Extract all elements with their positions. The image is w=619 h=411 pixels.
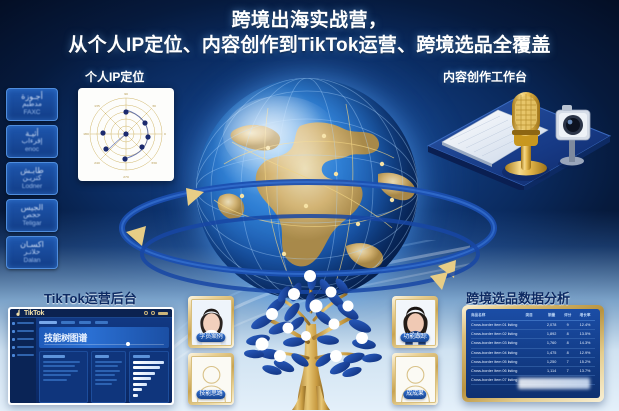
- table-cell-rating: 7: [560, 366, 575, 375]
- avatar-frame-inner: 学员案例: [191, 299, 232, 346]
- cross-border-data-table-frame[interactable]: 商品名称 类目 销量 评分 增长率 Cross-border item 01 l…: [462, 305, 604, 402]
- skill-tree-graphic: [236, 262, 386, 411]
- sidebar-item-icon: [12, 346, 15, 349]
- table-header-cell: 评分: [560, 313, 575, 321]
- table-cell-rating: 8: [560, 348, 575, 357]
- data-table: 商品名称 类目 销量 评分 增长率 Cross-border item 01 l…: [471, 313, 595, 385]
- table-header-row: 商品名称 类目 销量 评分 增长率: [471, 313, 595, 321]
- bar: [133, 394, 139, 397]
- sidebar-item[interactable]: [12, 337, 34, 341]
- sidebar-item[interactable]: [12, 345, 34, 349]
- bar: [133, 383, 147, 386]
- language-card-line3: Dalan: [24, 257, 41, 265]
- account-menu[interactable]: [158, 312, 168, 315]
- caption-content-workstation: 内容创作工作台: [443, 68, 527, 85]
- sidebar-item-label: [17, 354, 34, 356]
- sidebar-item-label: [17, 322, 34, 324]
- caption-tiktok-backend: TikTok运营后台: [44, 288, 137, 307]
- table-cell-name: Cross-border item 02 listing: [471, 330, 543, 339]
- list-item[interactable]: [43, 374, 71, 376]
- svg-text:330: 330: [151, 161, 157, 165]
- panel-list: [39, 351, 88, 403]
- table-cell-growth: 14.3%: [575, 339, 595, 348]
- list-item[interactable]: [43, 370, 78, 372]
- tiktok-dashboard-screen: TikTok: [10, 309, 172, 403]
- language-card-line1: أثيـة: [25, 130, 39, 138]
- table-cell-sales: 1,760: [543, 339, 560, 348]
- language-card-line2: حلاتـر: [24, 249, 40, 257]
- svg-text:90: 90: [124, 92, 128, 96]
- panel-bar-chart: [129, 351, 169, 403]
- tiktok-tab-bar: [39, 321, 169, 324]
- table-header-cell: 增长率: [575, 313, 595, 321]
- table-cell-growth: 15.2%: [575, 357, 595, 366]
- language-card-line3: enoc: [25, 146, 39, 154]
- table-header-cell: 销量: [543, 313, 560, 321]
- sidebar-item[interactable]: [12, 353, 34, 357]
- list-item: [95, 365, 119, 367]
- table-row[interactable]: Cross-border item 05 listing 1,250 7 15.…: [471, 357, 595, 366]
- tiktok-note-icon: [14, 309, 21, 317]
- panel-header: [133, 355, 151, 358]
- avatar-card-results[interactable]: 成成果: [392, 353, 438, 405]
- table-cell-name: Cross-border item 05 listing: [471, 357, 543, 366]
- list-item: [95, 379, 117, 381]
- language-card-line1: اكسـان: [20, 241, 44, 249]
- camera-icon: [556, 105, 590, 169]
- svg-text:0: 0: [164, 132, 166, 136]
- caption-ip-positioning: 个人IP定位: [85, 68, 144, 85]
- tiktok-dashboard-topbar: TikTok: [10, 309, 172, 318]
- tiktok-dashboard-body: 技能树图谱: [10, 318, 172, 403]
- language-card-line1: طابـش: [20, 167, 44, 175]
- language-card[interactable]: اكسـان حلاتـر Dalan: [6, 236, 58, 269]
- avatar-frame-inner: 技能思路: [191, 356, 232, 403]
- language-card-column: أجـوزة مدطبم FAXC أثيـة إقرءاب enoc طابـ…: [6, 88, 62, 273]
- language-card-line1: الجيس: [21, 204, 43, 212]
- poster-title: 跨境出海实战营， 从个人IP定位、内容创作到TikTok运营、跨境选品全覆盖: [0, 8, 619, 59]
- avatar-card-label: 成成果: [403, 390, 426, 399]
- avatar-frame-inner: 功能跟踪: [395, 299, 436, 346]
- list-item: [95, 383, 112, 385]
- bar: [133, 361, 164, 364]
- gear-icon[interactable]: [151, 311, 155, 315]
- table-row[interactable]: Cross-border item 02 listing 1,892 8 13.…: [471, 330, 595, 339]
- table-cell-growth: 12.9%: [575, 348, 595, 357]
- bar: [133, 366, 160, 369]
- title-line-1: 跨境出海实战营，: [0, 8, 619, 33]
- globe-highlight: [223, 96, 338, 176]
- progress-bar-fill: [44, 342, 130, 346]
- table-cell-rating: 8: [560, 339, 575, 348]
- svg-text:180: 180: [83, 132, 89, 136]
- table-row[interactable]: Cross-border item 06 listing 1,114 7 13.…: [471, 366, 595, 375]
- tiktok-sidebar: [10, 318, 36, 403]
- sidebar-item-label: [17, 330, 34, 332]
- list-item: [95, 374, 116, 376]
- table-header-cell: 类目: [526, 313, 543, 321]
- search-icon[interactable]: [144, 311, 148, 315]
- tiktok-dashboard-mockup[interactable]: TikTok: [8, 307, 174, 405]
- table-cell-name: Cross-border item 04 listing: [471, 348, 543, 357]
- tab-settings[interactable]: [95, 321, 108, 324]
- table-cell-rating: 7: [560, 357, 575, 366]
- list-item[interactable]: [43, 365, 75, 367]
- sidebar-item-icon: [12, 354, 15, 357]
- sidebar-item-icon: [12, 338, 15, 341]
- table-row[interactable]: Cross-border item 01 listing 2,078 9 12.…: [471, 321, 595, 330]
- list-item: [95, 370, 120, 372]
- ip-positioning-radar-card[interactable]: 90 0 270 180 30 330 240 135: [78, 88, 174, 181]
- svg-text:270: 270: [123, 175, 129, 179]
- panel-metrics: [91, 351, 126, 403]
- sidebar-item-icon: [12, 330, 15, 333]
- tiktok-logo-text: TikTok: [24, 310, 44, 317]
- title-line-2: 从个人IP定位、内容创作到TikTok运营、跨境选品全覆盖: [0, 33, 619, 59]
- avatar-frame-inner: 成成果: [395, 356, 436, 403]
- table-blurred-overlay: [518, 378, 590, 389]
- avatar-card-student-case[interactable]: 学员案例: [188, 296, 234, 348]
- table-row[interactable]: Cross-border item 04 listing 1,475 8 12.…: [471, 348, 595, 357]
- table-header-cell: 商品名称: [471, 313, 526, 321]
- progress-bar[interactable]: [44, 344, 164, 346]
- content-workstation-graphic: [420, 80, 616, 190]
- language-card-line2: إقرءاب: [22, 138, 43, 146]
- language-card-line3: Teligar: [22, 220, 41, 228]
- tab-analytics[interactable]: [79, 321, 91, 324]
- tab-content[interactable]: [61, 321, 75, 324]
- svg-text:135: 135: [94, 104, 100, 108]
- poster-canvas: 跨境出海实战营， 从个人IP定位、内容创作到TikTok运营、跨境选品全覆盖 个…: [0, 0, 619, 411]
- table-cell-growth: 13.7%: [575, 366, 595, 375]
- table-cell-growth: 12.4%: [575, 321, 595, 330]
- table-cell-name: Cross-border item 03 listing: [471, 339, 543, 348]
- bar: [133, 377, 152, 380]
- panel-header: [95, 355, 110, 358]
- panel-header: [43, 355, 65, 358]
- table-cell-growth: 13.5%: [575, 330, 595, 339]
- table-row[interactable]: Cross-border item 03 listing 1,760 8 14.…: [471, 339, 595, 348]
- sidebar-item-icon: [12, 322, 15, 325]
- bar: [133, 388, 143, 391]
- table-cell-sales: 1,892: [543, 330, 560, 339]
- avatar-card-label: 功能跟踪: [400, 333, 429, 342]
- language-card-line3: FAXC: [24, 109, 41, 117]
- language-card-line2: مدطبم: [22, 101, 42, 109]
- avatar-card-skill-path[interactable]: 技能思路: [188, 353, 234, 405]
- avatar-card-label: 学员案例: [196, 333, 225, 342]
- caption-cross-border-data: 跨境选品数据分析: [466, 288, 570, 307]
- table-cell-name: Cross-border item 06 listing: [471, 366, 543, 375]
- tiktok-topbar-actions: [144, 311, 168, 315]
- avatar-card-feature-track[interactable]: 功能跟踪: [392, 296, 438, 348]
- sidebar-item-label: [17, 338, 34, 340]
- tiktok-banner: 技能树图谱: [39, 327, 169, 348]
- table-cell-sales: 1,475: [543, 348, 560, 357]
- language-card[interactable]: الجيس حجص Teligar: [6, 199, 58, 232]
- sidebar-item-label: [17, 346, 34, 348]
- avatar-card-label: 技能思路: [196, 390, 225, 399]
- table-cell-rating: 9: [560, 321, 575, 330]
- table-cell-sales: 1,250: [543, 357, 560, 366]
- bar: [133, 372, 156, 375]
- table-cell-rating: 8: [560, 330, 575, 339]
- svg-text:30: 30: [152, 104, 156, 108]
- tiktok-panel-row: [39, 351, 169, 403]
- svg-text:240: 240: [94, 161, 100, 165]
- language-card-line2: حجص: [23, 212, 40, 220]
- sidebar-item[interactable]: [12, 321, 34, 325]
- language-card[interactable]: أثيـة إقرءاب enoc: [6, 125, 58, 158]
- tiktok-main-content: 技能树图谱: [36, 318, 172, 403]
- table-cell-sales: 2,078: [543, 321, 560, 330]
- sidebar-item[interactable]: [12, 329, 34, 333]
- language-card-line1: أجـوزة: [21, 93, 43, 101]
- cross-border-data-table-screen: 商品名称 类目 销量 评分 增长率 Cross-border item 01 l…: [466, 309, 600, 398]
- radar-chart: 90 0 270 180 30 330 240 135: [78, 88, 174, 181]
- language-card[interactable]: طابـش كتريـن Lodner: [6, 162, 58, 195]
- list-item[interactable]: [43, 361, 80, 363]
- table-cell-name: Cross-border item 01 listing: [471, 321, 543, 330]
- language-card-line3: Lodner: [22, 183, 42, 191]
- language-card[interactable]: أجـوزة مدطبم FAXC: [6, 88, 58, 121]
- list-item[interactable]: [43, 379, 67, 381]
- tab-overview[interactable]: [39, 321, 57, 324]
- list-item: [95, 361, 122, 363]
- table-cell-sales: 1,114: [543, 366, 560, 375]
- language-card-line2: كتريـن: [23, 175, 42, 183]
